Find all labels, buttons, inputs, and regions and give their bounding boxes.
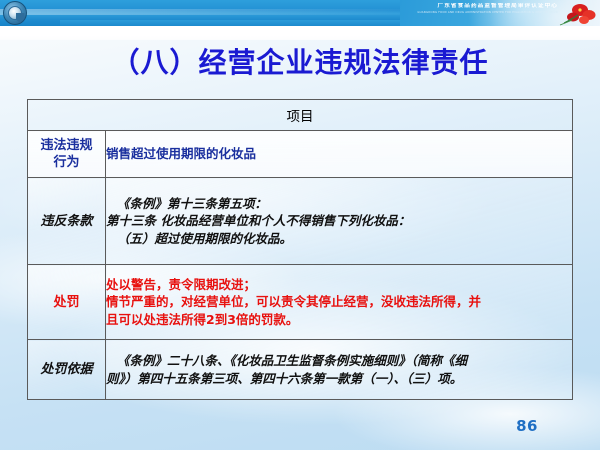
row-content-violation-behavior: 销售超过使用期限的化妆品 bbox=[106, 131, 573, 178]
content-line: 处以警告，责令限期改进； bbox=[106, 276, 572, 294]
content-line: 情节严重的，对经营单位，可以责令其停止经营，没收违法所得，并 bbox=[106, 293, 572, 311]
table-row: 处罚 处以警告，责令限期改进； 情节严重的，对经营单位，可以责令其停止经营，没收… bbox=[28, 265, 573, 340]
emblem-badge-icon bbox=[3, 1, 27, 25]
row-label-line-1: 违法违规 bbox=[28, 137, 105, 154]
content-line: 《条例》第十三条第五项： bbox=[106, 195, 572, 213]
table-header-cell: 项目 bbox=[28, 100, 573, 131]
row-content-penalty: 处以警告，责令限期改进； 情节严重的，对经营单位，可以责令其停止经营，没收违法所… bbox=[106, 265, 573, 340]
row-content-violated-clause: 《条例》第十三条第五项： 第十三条 化妆品经营单位和个人不得销售下列化妆品： （… bbox=[106, 178, 573, 265]
table-row: 处罚依据 《条例》二十八条、《化妆品卫生监督条例实施细则》（简称《细 则》）第四… bbox=[28, 340, 573, 400]
row-label-penalty-basis: 处罚依据 bbox=[28, 340, 106, 400]
page-title: （八）经营企业违规法律责任 bbox=[0, 46, 600, 80]
content-line: 第十三条 化妆品经营单位和个人不得销售下列化妆品： bbox=[106, 212, 572, 230]
legal-liability-table: 项目 违法违规 行为 销售超过使用期限的化妆品 违反条款 《条例》第十三条第五项… bbox=[27, 99, 573, 400]
page-number: 86 bbox=[516, 417, 538, 435]
row-content-penalty-basis: 《条例》二十八条、《化妆品卫生监督条例实施细则》（简称《细 则》）第四十五条第三… bbox=[106, 340, 573, 400]
content-line: （五）超过使用期限的化妆品。 bbox=[106, 230, 572, 248]
table-row: 违反条款 《条例》第十三条第五项： 第十三条 化妆品经营单位和个人不得销售下列化… bbox=[28, 178, 573, 265]
banner-org-name-en: GUANGDONG FOOD AND DRUG ADMINISTRATION C… bbox=[408, 11, 558, 15]
content-line: 则》）第四十五条第三项、第四十六条第一款第（一）、（三）项。 bbox=[106, 370, 572, 388]
emblem-inner-circle bbox=[8, 6, 22, 20]
content-line: 销售超过使用期限的化妆品 bbox=[106, 145, 572, 163]
top-banner: 广东省食品药品监督管理局审评认证中心 GUANGDONG FOOD AND DR… bbox=[0, 0, 600, 26]
banner-highlight-stripe bbox=[0, 9, 430, 15]
shield-icon bbox=[16, 13, 25, 23]
row-label-penalty: 处罚 bbox=[28, 265, 106, 340]
banner-org-name-cn: 广东省食品药品监督管理局审评认证中心 bbox=[410, 3, 558, 10]
row-label-violated-clause: 违反条款 bbox=[28, 178, 106, 265]
slide-canvas: 广东省食品药品监督管理局审评认证中心 GUANGDONG FOOD AND DR… bbox=[0, 0, 600, 450]
table-row: 违法违规 行为 销售超过使用期限的化妆品 bbox=[28, 131, 573, 178]
content-line: 《条例》二十八条、《化妆品卫生监督条例实施细则》（简称《细 bbox=[106, 352, 572, 370]
banner-underline-band bbox=[0, 26, 600, 40]
table-header-row: 项目 bbox=[28, 100, 573, 131]
row-label-violation-behavior: 违法违规 行为 bbox=[28, 131, 106, 178]
row-label-line-2: 行为 bbox=[28, 154, 105, 171]
content-line: 且可以处违法所得2到3倍的罚款。 bbox=[106, 311, 572, 329]
